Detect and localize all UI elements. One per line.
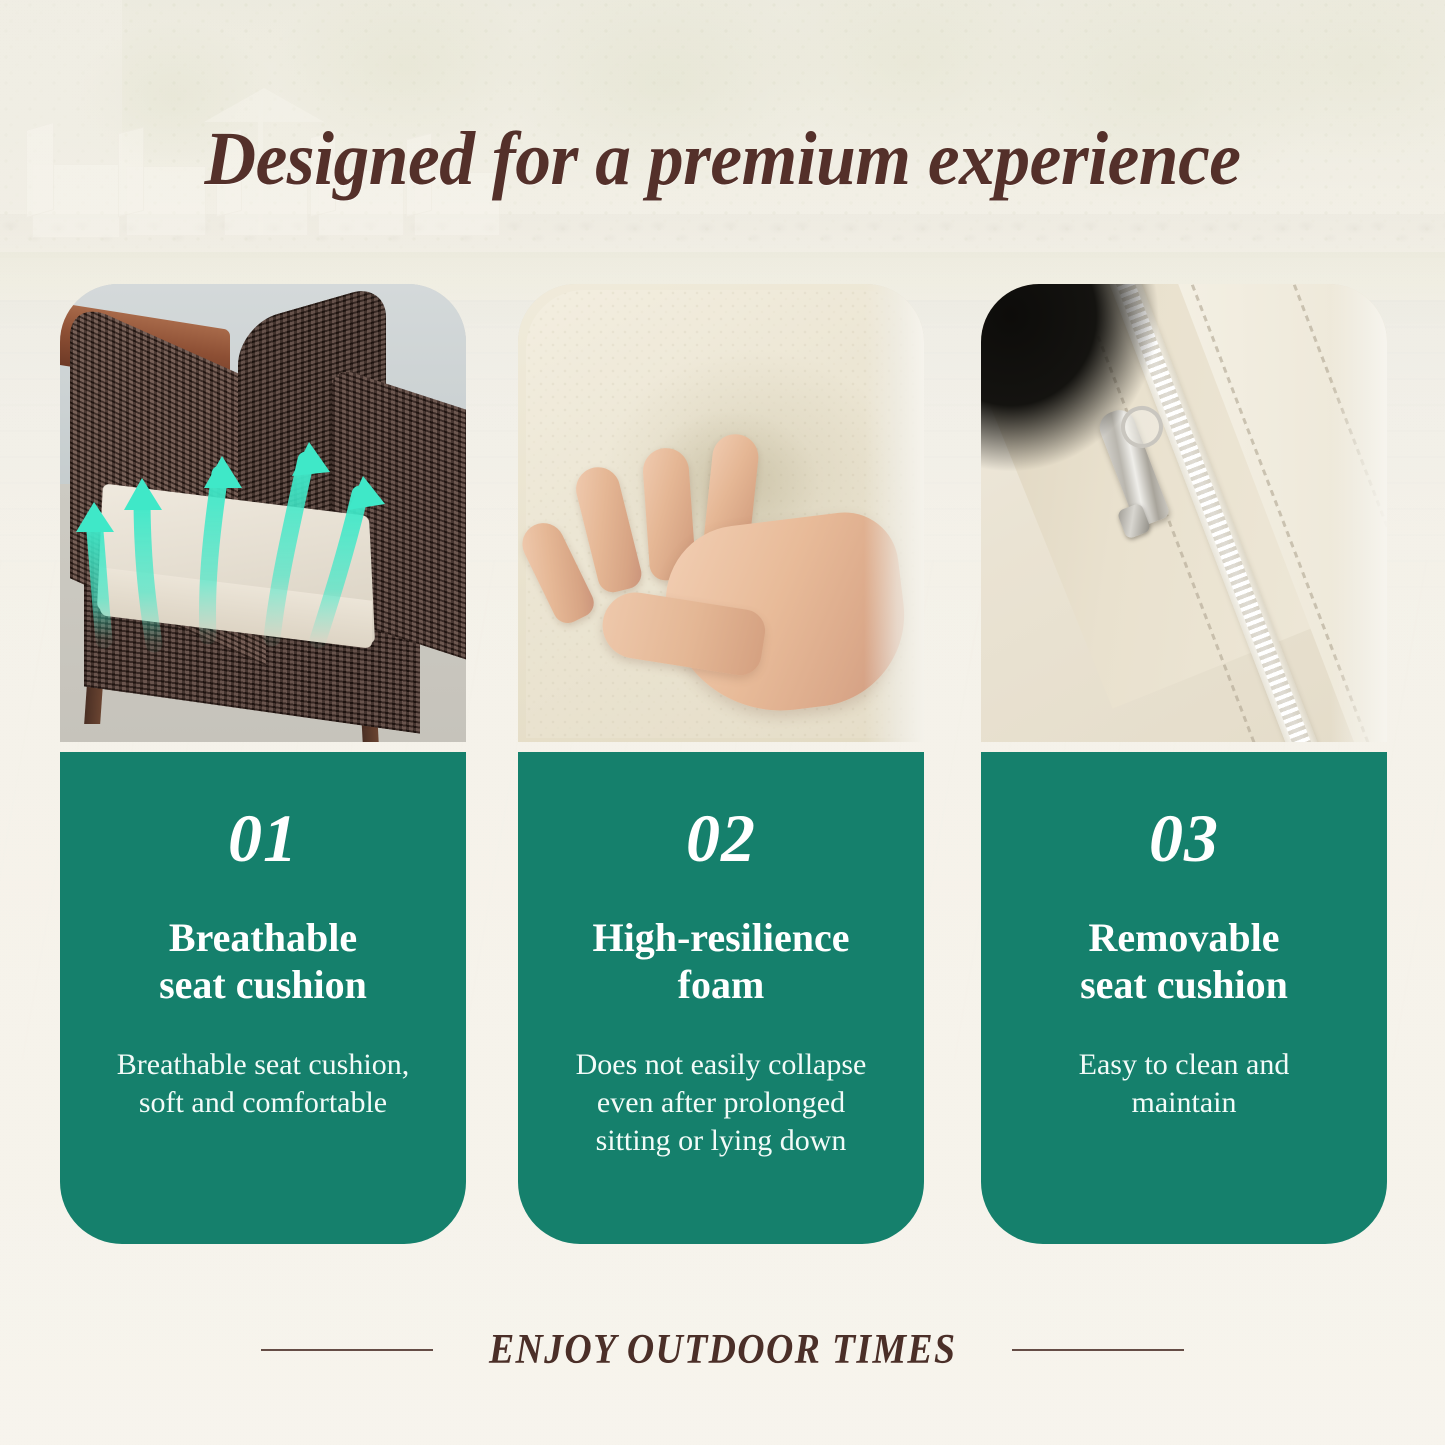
infographic-page: Designed for a premium experience	[0, 0, 1445, 1445]
feature-card-1: 01 Breathable seat cushion Breathable se…	[60, 752, 466, 1244]
feature-card-2-title: High-resilience foam	[536, 914, 906, 1008]
feature-card-1-title: Breathable seat cushion	[78, 914, 448, 1008]
footer-tagline: ENJOY OUTDOOR TIMES	[0, 1326, 1445, 1374]
footer-rule-right	[1012, 1349, 1184, 1351]
page-title: Designed for a premium experience	[43, 116, 1401, 203]
feature-card-2: 02 High-resilience foam Does not easily …	[518, 752, 924, 1244]
feature-card-3-number: 03	[999, 804, 1369, 872]
footer-tagline-text: ENJOY OUTDOOR TIMES	[489, 1326, 956, 1374]
feature-card-3-title: Removable seat cushion	[999, 914, 1369, 1008]
feature-card-1-description: Breathable seat cushion, soft and comfor…	[78, 1046, 448, 1122]
feature-card-3-description: Easy to clean and maintain	[999, 1046, 1369, 1122]
footer-rule-left	[261, 1349, 433, 1351]
feature-photo-3-removable-cushion	[981, 284, 1387, 742]
chair-photo-scene	[60, 284, 466, 742]
feature-card-3: 03 Removable seat cushion Easy to clean …	[981, 752, 1387, 1244]
feature-card-2-description: Does not easily collapse even after prol…	[536, 1046, 906, 1159]
feature-card-1-number: 01	[78, 804, 448, 872]
foam-photo-edge-fade	[864, 284, 924, 742]
feature-photo-2-high-resilience-foam	[518, 284, 924, 742]
zipper-photo-scene	[981, 284, 1387, 742]
feature-photo-1-breathable-cushion	[60, 284, 466, 742]
zipper-photo-shadow	[981, 284, 1191, 504]
foam-photo-scene	[518, 284, 924, 742]
zipper-photo-edge-fade	[1331, 284, 1387, 742]
airflow-arrows-icon	[60, 284, 466, 742]
feature-card-2-number: 02	[536, 804, 906, 872]
